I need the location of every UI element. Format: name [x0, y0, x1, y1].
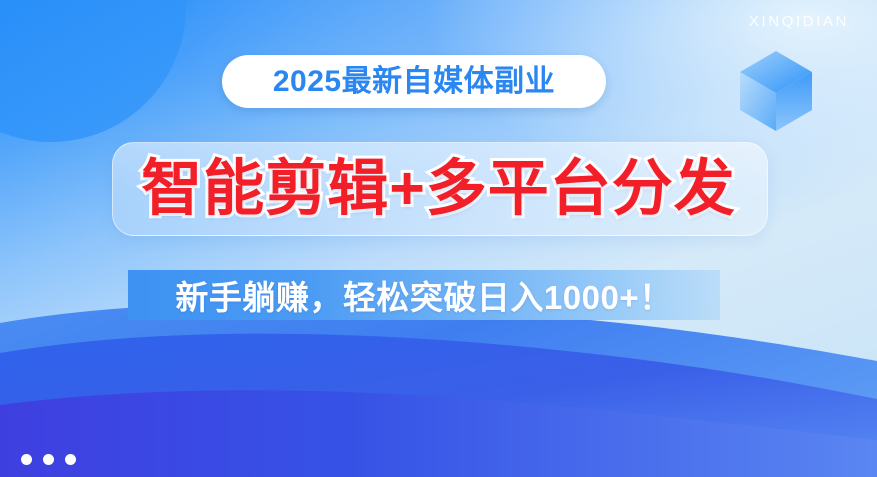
main-headline: 智能剪辑+多平台分发: [0, 148, 877, 228]
watermark-text: XINQIDIAN: [749, 13, 849, 30]
wave-decoration: [0, 297, 877, 477]
subheadline-text: 新手躺赚，轻松突破日入1000+！: [128, 270, 720, 320]
cube-icon: [737, 48, 815, 134]
dot-indicator-group[interactable]: [21, 454, 76, 465]
dot-indicator-3[interactable]: [65, 454, 76, 465]
dot-indicator-2[interactable]: [43, 454, 54, 465]
dot-indicator-1[interactable]: [21, 454, 32, 465]
headline-pill-badge: 2025最新自媒体副业: [222, 55, 606, 108]
promo-poster: XINQIDIAN: [0, 0, 877, 477]
pill-label: 2025最新自媒体副业: [273, 67, 555, 97]
